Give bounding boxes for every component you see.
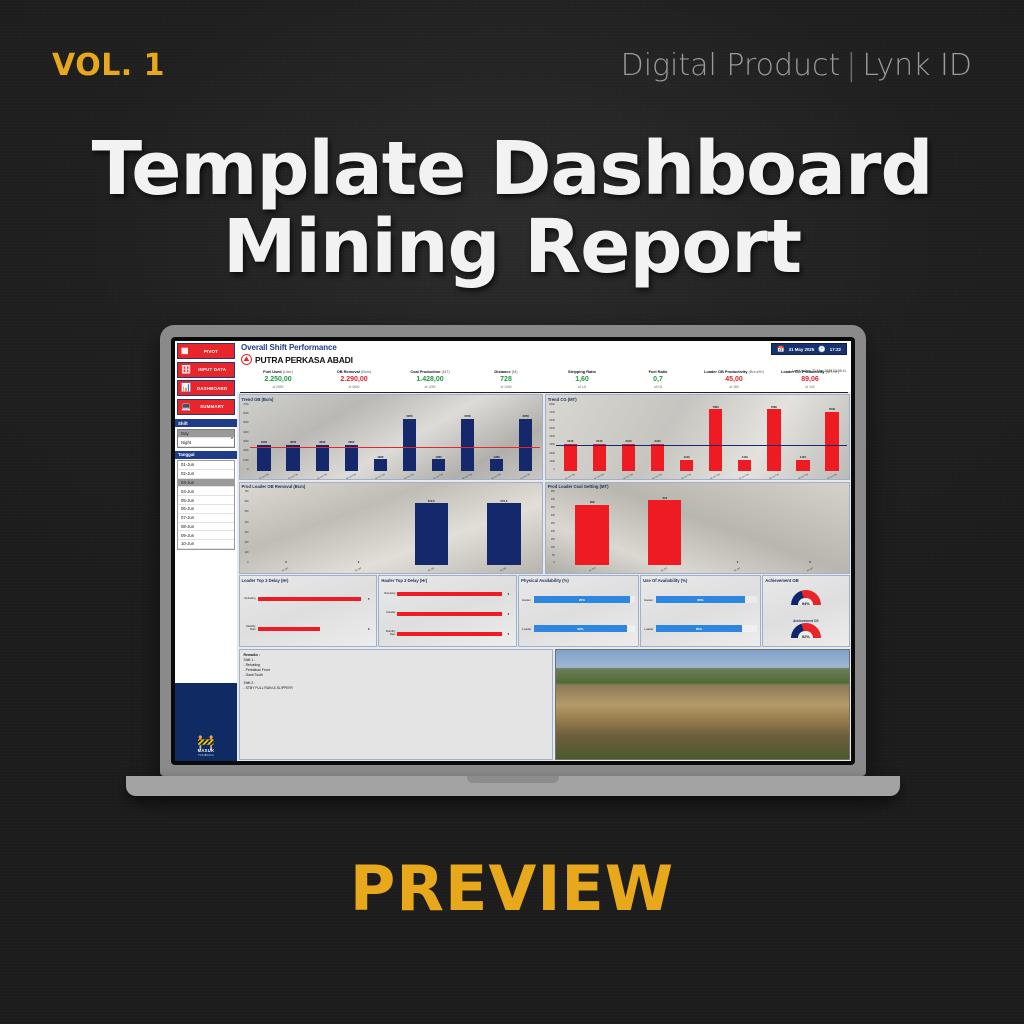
- bar: [651, 444, 664, 471]
- kpi-value: 1,60: [544, 376, 620, 383]
- clock-icon: 🕑: [818, 346, 825, 353]
- bar-label: 3440: [625, 439, 631, 443]
- gauge-value: 94%: [791, 601, 821, 606]
- datetime-badge: 📅 31 May 2025 🕑 17:22: [771, 343, 847, 355]
- chart-row-1: Trend OB (Bcm) 7000 6000 5000 4000: [239, 394, 850, 480]
- panel-prod-loader-ob[interactable]: Prod Loader OB Removal (Bcm) 700 600 500: [239, 482, 544, 574]
- y-tick: 2000: [241, 449, 249, 452]
- kpi-stripping-ratio: Stripping Ratio 1,60 of 1,6: [544, 369, 620, 389]
- bar-label: 7960: [771, 405, 777, 409]
- y-tick: 200: [547, 530, 555, 533]
- kpi-label: Distance: [494, 369, 510, 374]
- kpi-row: Fuel Used (Liter) 2.250,00 of 2500 OB Re…: [237, 365, 851, 392]
- bar-group: 141009-Jun Day: [788, 403, 817, 472]
- category-label: Loader: [644, 627, 654, 631]
- bar-group: 605008-Jun Day: [453, 403, 482, 472]
- kpi-target: of 1,6: [544, 385, 620, 389]
- bar: [564, 444, 577, 471]
- bar: [461, 419, 474, 471]
- y-tick: 450: [547, 490, 555, 493]
- prod-loader-cg-chart: 450 400 350 300 250 200 150 100: [546, 489, 849, 573]
- bar-group: 128007-Jun Day: [424, 403, 453, 472]
- kpi-label: OB Removal: [337, 369, 360, 374]
- bar: 95%: [534, 596, 630, 603]
- volume-label: VOL. 1: [52, 48, 165, 83]
- bar-label: 6050: [523, 414, 529, 418]
- bar-label: 1410: [742, 455, 748, 459]
- kpi-ob-removal: OB Removal (Bcm) 2.290,00 of 4500: [316, 369, 392, 389]
- bar-group: 389EX-010: [556, 490, 629, 565]
- shift-list-scrollbar[interactable]: [231, 431, 233, 439]
- kpi-target: of 1200: [392, 385, 468, 389]
- bar-label: 3440: [567, 439, 573, 443]
- sidebar-nav: ▦ PIVOT 🗄 INPUT DATA 📊 DASHBOARD: [175, 341, 237, 418]
- bar: [519, 419, 532, 471]
- x-tick: 01-Jun Day: [565, 473, 575, 480]
- bar-label: 0: [809, 560, 811, 564]
- bar-group: 306001-Jun Day: [250, 403, 279, 472]
- laptop-lid: ▦ PIVOT 🗄 INPUT DATA 📊 DASHBOARD: [160, 325, 866, 776]
- kpi-coal-production: Coal Production (MT) 1.428,00 of 1200: [392, 369, 468, 389]
- bar-label: 6050: [406, 414, 412, 418]
- bar: [286, 445, 299, 471]
- date-filter-header: Tanggal: [175, 451, 237, 459]
- x-tick: EX-001: [282, 567, 289, 572]
- sidebar-item-pivot[interactable]: ▦ PIVOT: [177, 343, 235, 359]
- bar-track: 85%: [656, 625, 757, 632]
- bar-track: [258, 597, 366, 601]
- kpi-target: of 180: [696, 385, 772, 389]
- x-tick: 07-Jun Day: [740, 473, 750, 480]
- bar-label: 572,5: [500, 499, 507, 503]
- bar-track: [258, 627, 366, 631]
- y-tick: 2000: [547, 452, 555, 455]
- gauge-dial: 92%: [791, 623, 821, 638]
- dashboard-title: Overall Shift Performance: [241, 343, 337, 352]
- date-option-06-jun[interactable]: 06-Jun: [178, 505, 234, 514]
- kpi-value: 2.250,00: [240, 376, 316, 383]
- bar-row: Standby Rain 5: [381, 631, 512, 636]
- kpi-value: 0,7: [620, 376, 696, 383]
- bar-label: 3050: [290, 440, 296, 444]
- x-tick: EX-004: [500, 567, 507, 572]
- chart-grid: Trend OB (Bcm) 7000 6000 5000 4000: [237, 393, 851, 762]
- bar-group: 764010-Jun Day: [817, 403, 846, 472]
- time-value: 17:22: [830, 347, 841, 352]
- panel-trend-ob[interactable]: Trend OB (Bcm) 7000 6000 5000 4000: [239, 394, 544, 480]
- bar-label: 373: [662, 496, 667, 500]
- panel-body: 700 600 500 400 300 200 100 0: [240, 489, 543, 573]
- bar-group: 141007-Jun Day: [730, 403, 759, 472]
- bar-label: 1280: [435, 455, 441, 459]
- y-tick: 700: [241, 490, 249, 493]
- sidebar-item-dashboard[interactable]: 📊 DASHBOARD: [177, 380, 235, 396]
- trend-cg-chart: 8000 7000 6000 5000 4000 3000 2000: [546, 402, 849, 480]
- laptop-screen: ▦ PIVOT 🗄 INPUT DATA 📊 DASHBOARD: [175, 341, 851, 761]
- sidebar: ▦ PIVOT 🗄 INPUT DATA 📊 DASHBOARD: [175, 341, 237, 761]
- kpi-label: Coal Production: [410, 369, 440, 374]
- bar: [403, 419, 416, 471]
- kpi-unit: (Bcm/Hr): [748, 369, 764, 374]
- y-axis: 8000 7000 6000 5000 4000 3000 2000: [547, 403, 556, 479]
- x-tick: 08-Jun Day: [769, 473, 779, 480]
- date-option-08-jun[interactable]: 08-Jun: [178, 523, 234, 532]
- bar-group: 344003-Jun Day: [614, 403, 643, 472]
- bar-label: 0: [285, 560, 287, 564]
- y-tick: 7000: [547, 411, 555, 414]
- category-label: Istirahat: [381, 612, 395, 615]
- bar-group: 572,5EX-004: [468, 490, 541, 565]
- dashboard-icon: 📊: [181, 384, 191, 392]
- sidebar-item-label: SUMMARY: [194, 404, 234, 409]
- bar: [258, 597, 362, 601]
- bar-row: Loader 85%: [644, 625, 757, 632]
- sidebar-item-label: PIVOT: [192, 349, 234, 354]
- kpi-unit: (MT): [441, 369, 449, 374]
- bar-group: 0EX-002: [322, 490, 395, 565]
- calendar-icon: 📅: [777, 346, 784, 353]
- dashboard-app: ▦ PIVOT 🗄 INPUT DATA 📊 DASHBOARD: [175, 341, 851, 761]
- date-filter-listbox[interactable]: 01-Jun 02-Jun 03-Jun 04-Jun 05-Jun 06-Ju…: [177, 460, 235, 550]
- dashboard-title-row: Overall Shift Performance: [241, 343, 847, 352]
- company-name: PUTRA PERKASA ABADI: [255, 355, 353, 365]
- data-entry-icon: 🗄: [181, 366, 191, 374]
- category-label: Hauler: [644, 598, 654, 602]
- y-tick: 150: [547, 538, 555, 541]
- category-label: Loader: [522, 627, 532, 631]
- title-line-2: Mining Report: [0, 208, 1024, 286]
- bar-label: 3440: [654, 439, 660, 443]
- y-tick: 0: [547, 468, 555, 471]
- bar: 92%: [534, 625, 626, 632]
- bar-group: 344002-Jun Day: [585, 403, 614, 472]
- bar-label: 7640: [829, 407, 835, 411]
- bar-label: 5: [508, 592, 513, 596]
- bar: [767, 409, 780, 471]
- panel-body: 450 400 350 300 250 200 150 100: [546, 489, 849, 573]
- bar-group: 306004-Jun Day: [337, 403, 366, 472]
- hauler-delay-chart: Refueling 5 Istirahat 5: [379, 583, 515, 647]
- kpi-target: of 0,8: [620, 385, 696, 389]
- bar: [680, 460, 693, 471]
- bar: [257, 445, 270, 471]
- plot-area: 389EX-010 373EX-011 0EX-012 0EX-013: [556, 490, 847, 572]
- bar-group: 128005-Jun Day: [366, 403, 395, 472]
- y-axis: 7000 6000 5000 4000 3000 2000 1000: [241, 403, 250, 479]
- laptop-bezel: ▦ PIVOT 🗄 INPUT DATA 📊 DASHBOARD: [171, 337, 855, 765]
- kpi-fuel-ratio: Fuel Ratio 0,7 of 0,8: [620, 369, 696, 389]
- panel-use-of-availability[interactable]: Use Of Availability (%) Hauler 88%: [640, 575, 761, 647]
- x-tick: 04-Jun Day: [652, 473, 662, 480]
- bar-row: Refueling 5: [242, 597, 373, 601]
- bar-group: 305002-Jun Day: [279, 403, 308, 472]
- loader-delay-chart: Refueling 5 Standby Rain 3: [240, 583, 376, 647]
- gauge-label: Achievement CG: [791, 619, 821, 623]
- logo-subtitle: TAMBANG: [198, 753, 214, 757]
- use-of-availability-chart: Hauler 88% Loader 85%: [641, 583, 760, 647]
- bar: [796, 460, 809, 471]
- plot-area: 344001-Jun Day 344002-Jun Day 344003-Jun…: [556, 403, 847, 479]
- panel-body: Hauler 95% Loader 92%: [519, 583, 638, 647]
- y-tick: 0: [241, 561, 249, 564]
- chart-row-4: Remarks : Shift 1 : - Refueling - Perbai…: [239, 649, 850, 760]
- bar-group: 605006-Jun Day: [395, 403, 424, 472]
- bar-row: Hauler 95%: [522, 596, 635, 603]
- bar-row: Hauler 88%: [644, 596, 757, 603]
- panel-hauler-delay[interactable]: Hauler Top 3 Delay (Hr) Refueling 5: [378, 575, 516, 647]
- x-tick: 06-Jun Day: [710, 473, 720, 480]
- category-label: Refueling: [242, 598, 256, 601]
- date-option-01-jun[interactable]: 01-Jun: [178, 461, 234, 470]
- y-tick: 3000: [241, 440, 249, 443]
- bar: [374, 459, 387, 471]
- date-option-04-jun[interactable]: 04-Jun: [178, 487, 234, 496]
- date-option-09-jun[interactable]: 09-Jun: [178, 531, 234, 540]
- dashboard-header: Overall Shift Performance 📅 31 May 2025 …: [237, 341, 851, 365]
- laptop-mockup: ▦ PIVOT 🗄 INPUT DATA 📊 DASHBOARD: [160, 325, 866, 796]
- category-label: Standby Rain: [242, 626, 256, 631]
- bar-label: 0: [358, 560, 360, 564]
- brand-separator: |: [846, 48, 856, 83]
- plot-area: 0EX-001 0EX-002 572,5EX-003 572,5EX-004: [250, 490, 541, 572]
- x-tick: EX-003: [428, 567, 435, 572]
- x-tick: 05-Jun Day: [681, 473, 691, 480]
- bar-track: 92%: [534, 625, 635, 632]
- y-tick: 600: [241, 500, 249, 503]
- x-tick: EX-002: [355, 567, 362, 572]
- bar-label: 3: [368, 627, 373, 631]
- kpi-distance: Distance (M) 728 of 1000: [468, 369, 544, 389]
- y-tick: 400: [547, 498, 555, 501]
- x-tick: 04-Jun Day: [346, 473, 356, 480]
- date-option-03-jun[interactable]: 03-Jun: [178, 479, 234, 488]
- average-line: [556, 445, 847, 446]
- bar-label: 1410: [683, 455, 689, 459]
- bar: [432, 459, 445, 471]
- date-value: 31 May 2025: [789, 347, 815, 352]
- bar: [487, 503, 520, 564]
- y-tick: 8000: [547, 403, 555, 406]
- sidebar-item-input-data[interactable]: 🗄 INPUT DATA: [177, 362, 235, 378]
- shift-option-day[interactable]: Day: [178, 430, 234, 439]
- y-tick: 7000: [241, 403, 249, 406]
- kpi-label: Stripping Ratio: [568, 369, 596, 374]
- y-tick: 300: [547, 514, 555, 517]
- x-tick: EX-013: [807, 567, 814, 572]
- date-option-07-jun[interactable]: 07-Jun: [178, 514, 234, 523]
- kpi-unit: (Bcm): [361, 369, 371, 374]
- y-tick: 100: [241, 551, 249, 554]
- bar-group: 605010-Jun Day: [511, 403, 540, 472]
- y-tick: 5000: [547, 427, 555, 430]
- remarks-item: - STBY FULL RAIN & SLIPPERY: [244, 686, 549, 691]
- chart-row-3: Loader Top 3 Delay (Hr) Refueling 5: [239, 575, 850, 647]
- kpi-target: of 1000: [468, 385, 544, 389]
- sidebar-spacer: [175, 551, 237, 683]
- bar-group: 128009-Jun Day: [482, 403, 511, 472]
- bar-label: 1280: [377, 455, 383, 459]
- x-tick: 01-Jun Day: [259, 473, 269, 480]
- kpi-label: Fuel Ratio: [649, 369, 668, 374]
- bar-label: 3440: [596, 439, 602, 443]
- achievement-gauges: 94% Achievement CG: [763, 583, 848, 647]
- y-tick: 1000: [547, 460, 555, 463]
- sidebar-item-label: INPUT DATA: [194, 367, 234, 372]
- y-tick: 6000: [547, 419, 555, 422]
- shift-option-night[interactable]: Night: [178, 438, 234, 447]
- bar-label: 3060: [261, 440, 267, 444]
- bar: [490, 459, 503, 471]
- bar-group: 0EX-001: [250, 490, 323, 565]
- panel-trend-cg[interactable]: Trend CG (MT) 8000 7000 6000 5000: [545, 394, 850, 480]
- bar-group: 0EX-013: [774, 490, 847, 565]
- bar-label: 7960: [713, 405, 719, 409]
- bar: [709, 409, 722, 471]
- bar: [415, 503, 448, 564]
- date-option-05-jun[interactable]: 05-Jun: [178, 496, 234, 505]
- bar-track: 88%: [656, 596, 757, 603]
- y-axis: 450 400 350 300 250 200 150 100: [547, 490, 556, 572]
- y-tick: 1000: [241, 459, 249, 462]
- date-option-10-jun[interactable]: 10-Jun: [178, 540, 234, 549]
- bar: [397, 612, 502, 616]
- kpi-value: 89,06: [772, 376, 848, 383]
- bar-label: 1410: [800, 455, 806, 459]
- x-tick: 09-Jun Day: [491, 473, 501, 480]
- bar: [258, 627, 321, 631]
- bar-group: 796008-Jun Day: [759, 403, 788, 472]
- y-tick: 0: [547, 561, 555, 564]
- y-tick: 300: [241, 531, 249, 534]
- panel-physical-availability[interactable]: Physical Availability (%) Hauler 95%: [518, 575, 639, 647]
- bar-group: 0EX-012: [701, 490, 774, 565]
- x-tick: 06-Jun Day: [404, 473, 414, 480]
- excavator-icon: 🚧: [197, 735, 214, 749]
- x-tick: 08-Jun Day: [462, 473, 472, 480]
- bar-label: 5: [508, 612, 513, 616]
- y-tick: 0: [241, 468, 249, 471]
- bar: [397, 632, 502, 636]
- bar: [575, 505, 608, 565]
- y-tick: 4000: [241, 431, 249, 434]
- bar: 88%: [656, 596, 744, 603]
- bar-label: 389: [590, 500, 595, 504]
- sidebar-item-summary[interactable]: 💻 SUMMARY: [177, 399, 235, 415]
- panel-prod-loader-cg[interactable]: Prod Loader Coal Getting (MT) 450 400 35…: [545, 482, 850, 574]
- bar-row: Standby Rain 3: [242, 626, 373, 631]
- bar: [622, 444, 635, 471]
- x-tick: 10-Jun Day: [827, 473, 837, 480]
- sidebar-item-label: DASHBOARD: [194, 386, 234, 391]
- gauge-dial: 94%: [791, 590, 821, 605]
- bar-group: 344004-Jun Day: [643, 403, 672, 472]
- kpi-target: of 4500: [316, 385, 392, 389]
- y-tick: 500: [241, 510, 249, 513]
- bar: [397, 592, 502, 596]
- x-tick: 09-Jun Day: [798, 473, 808, 480]
- kpi-value: 728: [468, 376, 544, 383]
- category-label: Refueling: [381, 593, 395, 596]
- bar-track: [397, 612, 505, 616]
- y-tick: 6000: [241, 412, 249, 415]
- brand-left-text: Digital Product: [621, 48, 841, 83]
- prod-loader-ob-chart: 700 600 500 400 300 200 100 0: [240, 489, 543, 573]
- laptop-trackpad-notch: [467, 776, 559, 783]
- title-line-1: Template Dashboard: [0, 130, 1024, 208]
- panel-loader-delay[interactable]: Loader Top 3 Delay (Hr) Refueling 5: [239, 575, 377, 647]
- bar: [345, 445, 358, 471]
- category-label: Hauler: [522, 598, 532, 602]
- bar-track: [397, 592, 505, 596]
- kpi-value: 45,00: [696, 376, 772, 383]
- y-tick: 400: [241, 521, 249, 524]
- gauge-cg: Achievement CG 92%: [791, 619, 821, 639]
- shift-filter-header: Shift: [175, 419, 237, 427]
- y-tick: 250: [547, 522, 555, 525]
- x-tick: 05-Jun Day: [375, 473, 385, 480]
- panel-achievement[interactable]: Achievement OB 94%: [762, 575, 849, 647]
- trend-ob-chart: 7000 6000 5000 4000 3000 2000 1000: [240, 402, 543, 480]
- x-tick: 07-Jun Day: [433, 473, 443, 480]
- bar-label: 0: [737, 560, 739, 564]
- x-tick: 03-Jun Day: [623, 473, 633, 480]
- bar: [648, 500, 681, 564]
- gauge-value: 92%: [791, 634, 821, 639]
- bar-label: 5: [368, 597, 373, 601]
- x-tick: 02-Jun Day: [288, 473, 298, 480]
- shift-filter-listbox[interactable]: Day Night: [177, 429, 235, 449]
- bar-label: 6050: [464, 414, 470, 418]
- bar: [316, 445, 329, 471]
- kpi-unit: (M): [512, 369, 518, 374]
- bar-label: 3060: [348, 440, 354, 444]
- average-line: [250, 447, 541, 448]
- physical-availability-chart: Hauler 95% Loader 92%: [519, 583, 638, 647]
- panel-body: Refueling 5 Standby Rain 3: [240, 583, 376, 647]
- bar-group: 141005-Jun Day: [672, 403, 701, 472]
- y-tick: 3000: [547, 443, 555, 446]
- sidebar-footer-logo: 🚧 MASUK TAMBANG: [175, 683, 237, 761]
- kpi-unit: (Liter): [283, 369, 293, 374]
- date-option-02-jun[interactable]: 02-Jun: [178, 470, 234, 479]
- kpi-fuel-used: Fuel Used (Liter) 2.250,00 of 2500: [240, 369, 316, 389]
- company-logo-mark: 🚧 MASUK TAMBANG: [197, 735, 214, 757]
- bar-group: 572,5EX-003: [395, 490, 468, 565]
- x-tick: EX-012: [734, 567, 741, 572]
- bar-group: 796006-Jun Day: [701, 403, 730, 472]
- x-tick: 02-Jun Day: [594, 473, 604, 480]
- y-tick: 200: [241, 541, 249, 544]
- brand-line: Digital Product|Lynk ID: [621, 48, 972, 83]
- gauge-ob: 94%: [791, 590, 821, 605]
- laptop-base: [126, 776, 900, 796]
- bar-row: Loader 92%: [522, 625, 635, 632]
- x-tick: EX-011: [661, 568, 668, 573]
- bar-row: Istirahat 5: [381, 612, 512, 616]
- kpi-loader-ob-productivity: Loader OB Productivity (Bcm/Hr) 45,00 of…: [696, 369, 772, 389]
- monitor-icon: 💻: [181, 403, 191, 411]
- bar-group: 373EX-011: [628, 490, 701, 565]
- panel-site-photo: [555, 649, 850, 760]
- kpi-label: Loader OB Productivity: [704, 369, 747, 374]
- mining-helmet-icon: ⛰: [241, 354, 252, 365]
- last-update-text: Last Update: 31-May-2025 13:05:11: [792, 369, 846, 373]
- kpi-value: 2.290,00: [316, 376, 392, 383]
- panel-remarks[interactable]: Remarks : Shift 1 : - Refueling - Perbai…: [239, 649, 554, 760]
- category-label: Standby Rain: [381, 631, 395, 636]
- bar: [825, 412, 838, 471]
- y-tick: 5000: [241, 421, 249, 424]
